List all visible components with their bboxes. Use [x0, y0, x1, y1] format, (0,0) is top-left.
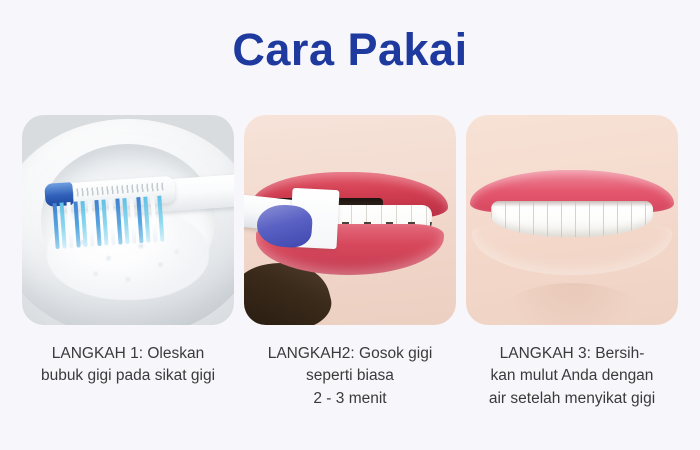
steps-row: LANGKAH 1: Oleskan bubuk gigi pada sikat… [0, 115, 700, 410]
step-card-2: LANGKAH2: Gosok gigi seperti biasa 2 - 3… [244, 115, 456, 410]
step-3-caption: LANGKAH 3: Bersih- kan mulut Anda dengan… [466, 343, 678, 410]
lower-lip [472, 224, 671, 274]
step-2-caption-line-3: 2 - 3 menit [244, 388, 456, 410]
step-2-caption: LANGKAH2: Gosok gigi seperti biasa 2 - 3… [244, 343, 456, 410]
step-3-photo-smile [466, 115, 678, 325]
step-1-photo-powder-jar [22, 115, 234, 325]
toothbrush-bristles [52, 195, 174, 249]
page-title: Cara Pakai [0, 26, 700, 73]
step-2-photo-brushing [244, 115, 456, 325]
step-3-caption-line-3: air setelah menyikat gigi [466, 388, 678, 410]
step-1-caption: LANGKAH 1: Oleskan bubuk gigi pada sikat… [22, 343, 234, 388]
smile-group [470, 170, 674, 275]
step-card-3: LANGKAH 3: Bersih- kan mulut Anda dengan… [466, 115, 678, 410]
step-1-caption-line-2: bubuk gigi pada sikat gigi [22, 365, 234, 387]
step-3-caption-line-2: kan mulut Anda dengan [466, 365, 678, 387]
step-2-caption-line-2: seperti biasa [244, 365, 456, 387]
step-card-1: LANGKAH 1: Oleskan bubuk gigi pada sikat… [22, 115, 234, 388]
step-1-caption-line-1: LANGKAH 1: Oleskan [22, 343, 234, 365]
step-3-caption-line-1: LANGKAH 3: Bersih- [466, 343, 678, 365]
step-2-caption-line-1: LANGKAH2: Gosok gigi [244, 343, 456, 365]
